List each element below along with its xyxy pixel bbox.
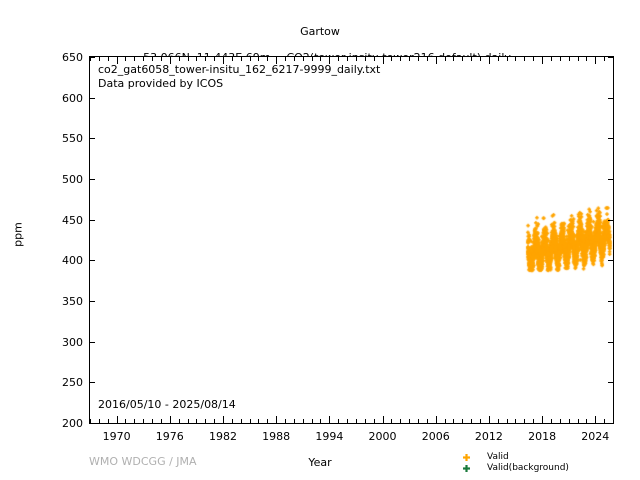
x-tick-mark-major [329,416,330,423]
x-tick-mark-minor [196,419,197,423]
y-tick-label: 600 [39,93,83,104]
x-tick-mark-minor [524,419,525,423]
legend-marker-icon [463,465,470,472]
chart-title-station: Gartow [0,25,640,38]
x-tick-mark-minor [347,419,348,423]
x-tick-mark-minor [471,57,472,61]
y-tick-label: 350 [39,296,83,307]
x-tick-mark-minor [507,57,508,61]
y-tick-mark [90,342,95,343]
x-tick-mark-minor [196,57,197,61]
x-tick-mark-minor [356,419,357,423]
x-tick-mark-minor [312,419,313,423]
x-tick-mark-minor [445,419,446,423]
x-tick-label: 1970 [87,431,147,442]
x-tick-mark-major [436,416,437,423]
plot-area: co2_gat6058_tower-insitu_162_6217-9999_d… [89,56,614,424]
x-tick-mark-minor [205,419,206,423]
legend-marker-icon [463,454,470,461]
x-tick-mark-minor [365,57,366,61]
x-tick-mark-major [329,57,330,64]
x-tick-mark-minor [515,419,516,423]
x-tick-mark-minor [232,57,233,61]
x-tick-mark-minor [533,57,534,61]
x-tick-mark-minor [241,57,242,61]
x-tick-mark-major [542,57,543,64]
y-tick-label: 450 [39,215,83,226]
x-tick-label: 1982 [193,431,253,442]
y-tick-label: 550 [39,133,83,144]
data-scatter-layer [90,57,613,423]
x-tick-mark-major [489,416,490,423]
x-tick-mark-minor [285,57,286,61]
x-tick-label: 2006 [406,431,466,442]
x-tick-mark-minor [365,419,366,423]
y-tick-mark [90,382,95,383]
x-tick-mark-minor [99,419,100,423]
x-tick-mark-minor [143,57,144,61]
x-tick-mark-minor [232,419,233,423]
x-tick-mark-minor [551,57,552,61]
x-tick-mark-minor [427,419,428,423]
x-tick-mark-major [436,57,437,64]
y-tick-label: 300 [39,337,83,348]
x-tick-mark-minor [179,419,180,423]
x-tick-label: 1988 [246,431,306,442]
legend-label: Valid [487,452,509,463]
x-tick-mark-minor [524,57,525,61]
x-tick-mark-major [595,57,596,64]
x-tick-mark-minor [462,57,463,61]
x-tick-mark-minor [374,419,375,423]
y-tick-label: 650 [39,52,83,63]
x-tick-mark-minor [152,57,153,61]
legend-entry[interactable]: Valid [459,452,639,463]
x-tick-mark-minor [498,57,499,61]
x-tick-mark-minor [560,419,561,423]
y-tick-label: 250 [39,377,83,388]
x-tick-mark-major [542,416,543,423]
x-tick-mark-minor [356,57,357,61]
x-tick-mark-minor [604,419,605,423]
y-tick-mark [90,260,95,261]
x-tick-mark-minor [161,57,162,61]
x-tick-mark-minor [578,57,579,61]
x-tick-mark-minor [125,57,126,61]
y-tick-label: 400 [39,255,83,266]
x-tick-mark-minor [303,419,304,423]
x-tick-mark-minor [507,419,508,423]
x-tick-label: 2018 [512,431,572,442]
y-tick-mark [608,98,613,99]
x-tick-mark-minor [453,419,454,423]
y-tick-mark [608,220,613,221]
x-tick-mark-minor [613,419,614,423]
x-tick-mark-minor [250,419,251,423]
x-tick-mark-minor [471,419,472,423]
x-tick-mark-major [170,416,171,423]
x-tick-mark-minor [294,419,295,423]
x-tick-mark-minor [90,419,91,423]
x-tick-mark-minor [338,57,339,61]
x-tick-mark-minor [551,419,552,423]
x-tick-mark-minor [586,57,587,61]
x-tick-mark-minor [498,419,499,423]
x-tick-mark-minor [152,419,153,423]
x-tick-mark-minor [108,419,109,423]
x-tick-mark-minor [285,419,286,423]
y-tick-label: 500 [39,174,83,185]
x-tick-mark-minor [338,419,339,423]
x-tick-mark-minor [418,57,419,61]
y-tick-mark [90,179,95,180]
x-tick-mark-minor [188,419,189,423]
x-tick-mark-major [170,57,171,64]
legend-label: Valid(background) [487,463,569,474]
x-tick-mark-major [489,57,490,64]
x-tick-mark-minor [214,57,215,61]
x-tick-mark-minor [480,419,481,423]
x-tick-mark-minor [214,419,215,423]
x-tick-mark-minor [391,419,392,423]
x-tick-mark-minor [569,57,570,61]
x-tick-mark-minor [303,57,304,61]
x-tick-mark-minor [250,57,251,61]
x-tick-mark-minor [267,57,268,61]
x-tick-mark-major [595,416,596,423]
y-tick-mark [90,220,95,221]
x-tick-mark-minor [391,57,392,61]
x-tick-label: 1976 [140,431,200,442]
x-tick-mark-major [383,416,384,423]
x-tick-mark-minor [569,419,570,423]
y-axis-label: ppm [12,205,25,265]
x-tick-mark-minor [400,57,401,61]
x-tick-mark-minor [613,57,614,61]
chart-legend: ValidValid(background) [459,452,639,474]
chart-figure: Gartow 53.066N, 11.443E 69mCO2(tower-ins… [0,0,640,480]
x-tick-mark-minor [320,57,321,61]
x-tick-label: 1994 [299,431,359,442]
x-tick-mark-minor [560,57,561,61]
x-tick-mark-minor [409,419,410,423]
x-tick-mark-minor [462,419,463,423]
x-tick-label: 2024 [565,431,625,442]
x-tick-mark-minor [445,57,446,61]
y-tick-mark [608,342,613,343]
x-tick-mark-minor [179,57,180,61]
x-tick-mark-minor [143,419,144,423]
x-tick-mark-minor [258,419,259,423]
x-tick-mark-major [223,416,224,423]
y-tick-mark [608,260,613,261]
x-tick-mark-minor [99,57,100,61]
x-tick-mark-minor [320,419,321,423]
x-tick-mark-minor [134,419,135,423]
x-tick-mark-major [383,57,384,64]
x-tick-mark-minor [125,419,126,423]
legend-entry[interactable]: Valid(background) [459,463,639,474]
x-tick-mark-minor [347,57,348,61]
y-tick-label: 200 [39,418,83,429]
y-tick-mark [90,98,95,99]
x-tick-mark-minor [267,419,268,423]
y-tick-mark [608,138,613,139]
x-tick-mark-minor [586,419,587,423]
x-tick-mark-minor [294,57,295,61]
y-tick-mark [90,138,95,139]
x-tick-mark-minor [108,57,109,61]
x-tick-mark-minor [453,57,454,61]
x-tick-label: 2012 [459,431,519,442]
x-tick-mark-minor [418,419,419,423]
x-tick-mark-major [276,416,277,423]
x-tick-mark-minor [205,57,206,61]
watermark-credit: WMO WDCGG / JMA [89,455,197,468]
y-tick-mark [608,423,613,424]
x-tick-mark-minor [400,419,401,423]
x-tick-mark-minor [241,419,242,423]
y-tick-mark [608,301,613,302]
x-tick-mark-minor [515,57,516,61]
x-tick-mark-minor [188,57,189,61]
x-tick-mark-minor [533,419,534,423]
x-tick-mark-minor [312,57,313,61]
x-tick-mark-minor [161,419,162,423]
x-tick-mark-minor [90,57,91,61]
y-tick-mark [90,301,95,302]
y-tick-mark [90,423,95,424]
x-tick-mark-major [117,416,118,423]
x-tick-mark-minor [480,57,481,61]
x-tick-mark-minor [134,57,135,61]
x-tick-mark-major [276,57,277,64]
x-tick-mark-major [223,57,224,64]
y-tick-mark [608,179,613,180]
x-tick-mark-minor [427,57,428,61]
x-tick-mark-major [117,57,118,64]
x-tick-mark-minor [258,57,259,61]
x-tick-label: 2000 [353,431,413,442]
y-tick-mark [608,382,613,383]
x-tick-mark-minor [578,419,579,423]
x-tick-mark-minor [374,57,375,61]
x-tick-mark-minor [409,57,410,61]
x-tick-mark-minor [604,57,605,61]
